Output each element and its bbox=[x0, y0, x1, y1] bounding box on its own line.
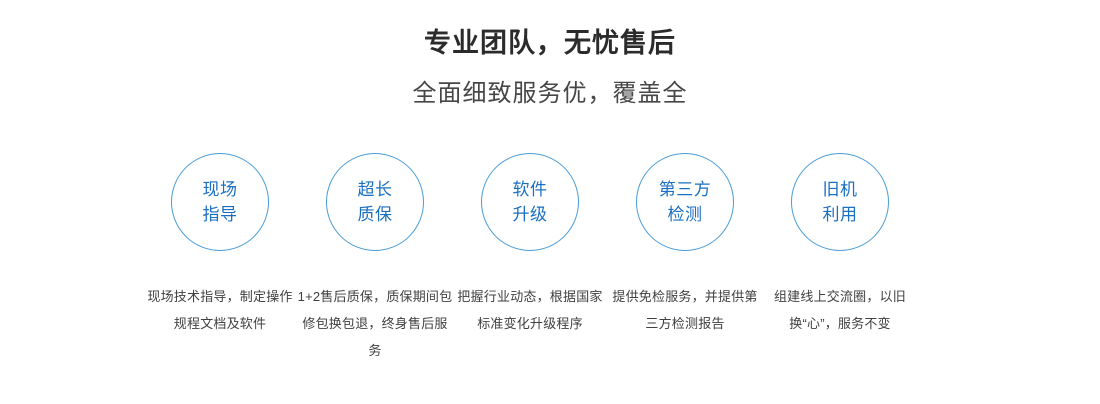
feature-description: 提供免检服务，并提供第三方检测报告 bbox=[606, 283, 764, 337]
page-title: 专业团队，无忧售后 bbox=[0, 26, 1100, 60]
heading-block: 专业团队，无忧售后 全面细致服务优，覆盖全 bbox=[0, 26, 1100, 110]
feature-circle: 旧机 利用 bbox=[791, 153, 889, 251]
feature-item-software-upgrade: 软件 升级 把握行业动态，根据国家标准变化升级程序 bbox=[480, 153, 580, 337]
feature-circle: 第三方 检测 bbox=[636, 153, 734, 251]
page-subtitle: 全面细致服务优，覆盖全 bbox=[0, 78, 1100, 110]
feature-item-onsite-guidance: 现场 指导 现场技术指导，制定操作规程文档及软件 bbox=[170, 153, 270, 337]
feature-item-trade-in: 旧机 利用 组建线上交流圈，以旧换“心”，服务不变 bbox=[790, 153, 890, 337]
feature-circle: 现场 指导 bbox=[171, 153, 269, 251]
feature-circle-label-line2: 利用 bbox=[823, 202, 858, 227]
feature-circle-label-line1: 软件 bbox=[513, 177, 548, 202]
feature-circle-label-line2: 升级 bbox=[513, 202, 548, 227]
feature-description: 把握行业动态，根据国家标准变化升级程序 bbox=[451, 283, 609, 337]
feature-circle: 超长 质保 bbox=[326, 153, 424, 251]
feature-circle-label-line1: 超长 bbox=[358, 177, 393, 202]
feature-circle-label-line1: 现场 bbox=[203, 177, 238, 202]
feature-item-extended-warranty: 超长 质保 1+2售后质保，质保期间包修包换包退，终身售后服务 bbox=[325, 153, 425, 364]
feature-circle-label-line1: 旧机 bbox=[823, 177, 858, 202]
service-promo-section: 专业团队，无忧售后 全面细致服务优，覆盖全 现场 指导 现场技术指导，制定操作规… bbox=[0, 0, 1100, 404]
feature-circle-label-line2: 指导 bbox=[203, 202, 238, 227]
feature-item-third-party-inspection: 第三方 检测 提供免检服务，并提供第三方检测报告 bbox=[635, 153, 735, 337]
feature-circle: 软件 升级 bbox=[481, 153, 579, 251]
feature-list: 现场 指导 现场技术指导，制定操作规程文档及软件 超长 质保 1+2售后质保，质… bbox=[170, 153, 890, 364]
feature-circle-label-line1: 第三方 bbox=[659, 177, 712, 202]
feature-description: 1+2售后质保，质保期间包修包换包退，终身售后服务 bbox=[296, 283, 454, 364]
feature-description: 现场技术指导，制定操作规程文档及软件 bbox=[141, 283, 299, 337]
feature-circle-label-line2: 质保 bbox=[358, 202, 393, 227]
feature-circle-label-line2: 检测 bbox=[668, 202, 703, 227]
feature-description: 组建线上交流圈，以旧换“心”，服务不变 bbox=[761, 283, 919, 337]
